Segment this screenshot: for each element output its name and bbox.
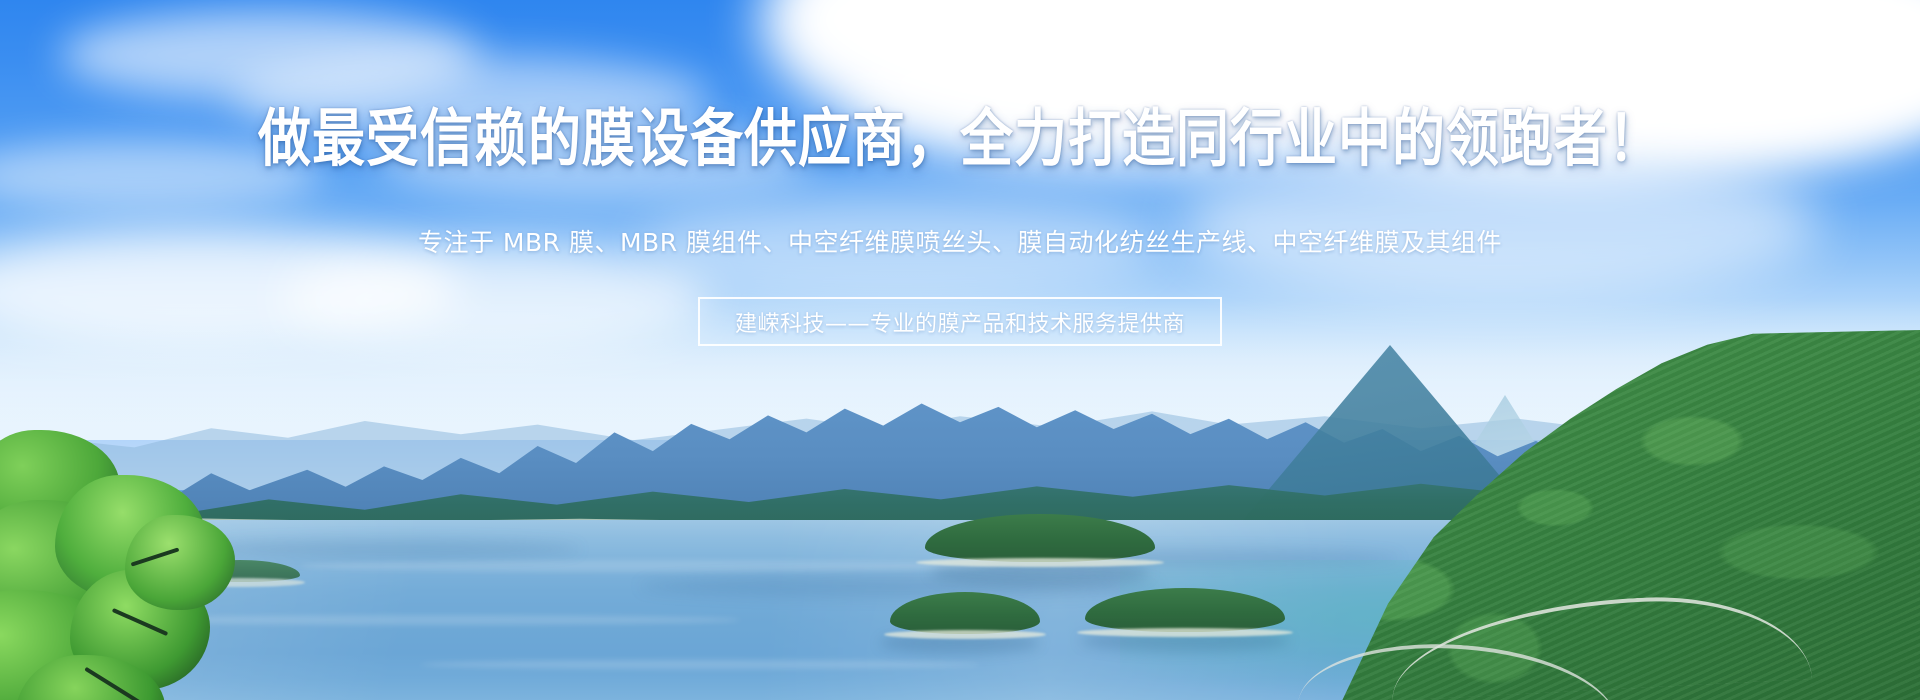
tagline-text: 建嵘科技——专业的膜产品和技术服务提供商 (735, 306, 1185, 338)
tagline-box: 建嵘科技——专业的膜产品和技术服务提供商 (698, 297, 1222, 346)
banner-subheadline: 专注于 MBR 膜、MBR 膜组件、中空纤维膜喷丝头、膜自动化纺丝生产线、中空纤… (0, 228, 1920, 258)
hero-banner: 做最受信赖的膜设备供应商，全力打造同行业中的领跑者！ 专注于 MBR 膜、MBR… (0, 0, 1920, 700)
hero-text-overlay: 做最受信赖的膜设备供应商，全力打造同行业中的领跑者！ 专注于 MBR 膜、MBR… (0, 0, 1920, 700)
banner-headline: 做最受信赖的膜设备供应商，全力打造同行业中的领跑者！ (0, 108, 1920, 171)
